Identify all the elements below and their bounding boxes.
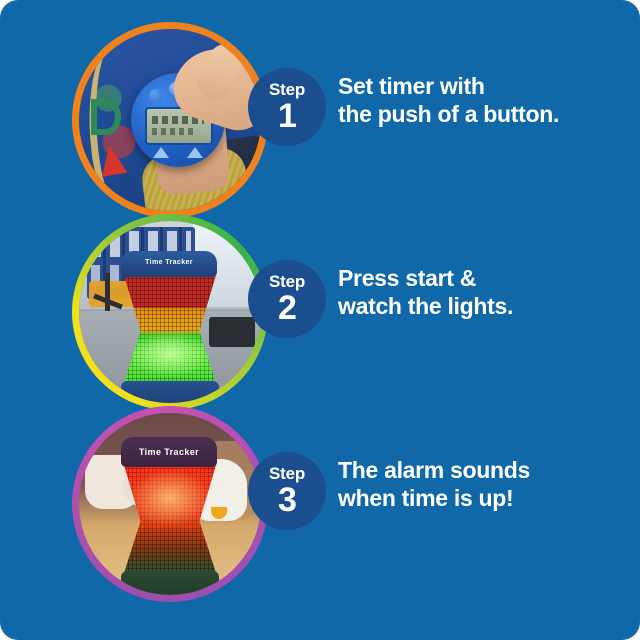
device-cap: Time Tracker [121, 437, 217, 467]
step-3-badge-word: Step [269, 465, 305, 482]
step-1-badge: Step 1 [248, 68, 326, 146]
step-2-badge: Step 2 [248, 260, 326, 338]
device-cap: Time Tracker [121, 251, 217, 277]
step-2-photo-circle: Time Tracker Learning Resources [72, 214, 268, 410]
step-3-badge: Step 3 [248, 452, 326, 530]
step-1-badge-word: Step [269, 81, 305, 98]
time-tracker-device-green: Time Tracker Learning Resources [121, 251, 219, 403]
remote-button-left [149, 89, 163, 103]
step-1-caption: Set timer with the push of a button. [338, 72, 630, 128]
device-light-column [124, 465, 216, 573]
device-light-column [124, 275, 216, 383]
step-2-caption-line-2: watch the lights. [338, 292, 630, 320]
step-2-caption-line-1: Press start & [338, 265, 476, 291]
device-red-glow [126, 467, 214, 529]
step-1-photo-circle [72, 22, 268, 218]
step-1-caption-line-2: the push of a button. [338, 100, 630, 128]
step-2-badge-word: Step [269, 273, 305, 290]
device-brand-label: Time Tracker [121, 447, 217, 457]
time-tracker-device-red-alarm: Time Tracker [121, 437, 219, 595]
infographic-poster: Step 1 Set timer with the push of a butt… [0, 0, 640, 640]
step-3-photo-circle: Time Tracker [72, 406, 268, 602]
lcd-digits-row-2 [152, 128, 196, 135]
artwork-letter-d [91, 99, 121, 135]
step-row-1: Step 1 Set timer with the push of a butt… [0, 20, 640, 220]
step-1-badge-number: 1 [278, 99, 296, 133]
step-row-3: Time Tracker Step 3 The alarm sounds whe… [0, 404, 640, 604]
device-green-glow [128, 331, 212, 377]
step-3-photo: Time Tracker [79, 413, 261, 595]
step-1-caption-line-1: Set timer with [338, 73, 485, 99]
remote-up-arrow-icon [153, 147, 169, 158]
artwork-letter-a [97, 143, 128, 177]
step-2-badge-number: 2 [278, 291, 296, 325]
device-base [121, 571, 219, 595]
step-3-caption-line-2: when time is up! [338, 484, 630, 512]
device-base: Learning Resources [121, 381, 219, 403]
step-3-caption-line-1: The alarm sounds [338, 457, 530, 483]
step-3-caption: The alarm sounds when time is up! [338, 456, 630, 512]
remote-down-arrow-icon [187, 147, 203, 158]
step-2-caption: Press start & watch the lights. [338, 264, 630, 320]
step-2-photo: Time Tracker Learning Resources [79, 221, 261, 403]
step-3-badge-number: 3 [278, 483, 296, 517]
device-brand-label: Time Tracker [121, 259, 217, 266]
step-row-2: Time Tracker Learning Resources Step 2 [0, 212, 640, 412]
step-1-photo [79, 29, 261, 211]
